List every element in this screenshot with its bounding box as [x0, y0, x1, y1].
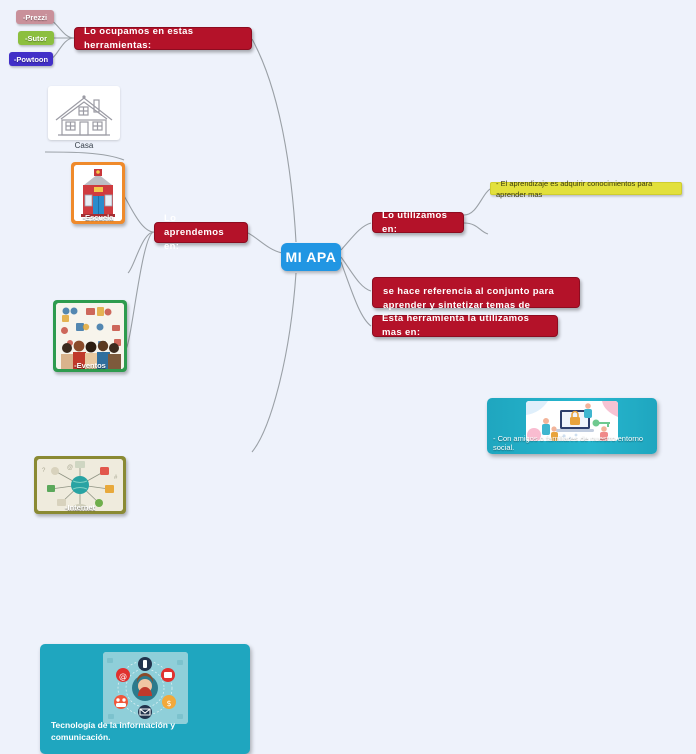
node-casa-caption: Casa — [48, 141, 120, 150]
connector-usein-to-note — [464, 188, 492, 215]
node-social-card-caption: - Con amigos o familiares de nuestro ent… — [487, 432, 657, 454]
node-definition-line1: se hace referencia al conjunto para — [383, 285, 569, 299]
node-sutor-label: -Sutor — [25, 34, 47, 43]
house-icon — [48, 86, 120, 140]
connector-casa-stub — [45, 152, 124, 160]
node-learning-note-label: - El aprendizaje es adquirir conocimient… — [496, 178, 676, 200]
node-escuela[interactable]: -Escuela — [71, 162, 125, 224]
svg-text:@: @ — [67, 465, 73, 471]
svg-text:$: $ — [166, 699, 171, 708]
svg-text:@: @ — [119, 672, 127, 681]
node-usein-header[interactable]: Lo utilizamos en: — [372, 212, 464, 233]
node-eventos[interactable]: -Eventos — [53, 300, 127, 372]
node-sutor[interactable]: -Sutor — [18, 31, 54, 45]
node-social-card[interactable]: - Con amigos o familiares de nuestro ent… — [487, 398, 657, 454]
node-internet-caption: -Internet — [34, 502, 126, 514]
node-learnin-header-label: Lo aprendemos en: — [164, 212, 238, 254]
node-tic-card-picture: @ $ — [103, 652, 188, 724]
node-prezzi[interactable]: -Prezzi — [16, 10, 54, 24]
connector-root-to-usein — [341, 223, 371, 250]
connector-root-to-definition — [341, 257, 371, 291]
node-usein-header-label: Lo utilizamos en: — [382, 209, 454, 237]
connector-learnin-to-escuela — [122, 193, 154, 232]
connector-root-to-toolused — [341, 262, 371, 326]
node-escuela-caption: -Escuela — [71, 212, 125, 224]
node-learning-note[interactable]: - El aprendizaje es adquirir conocimient… — [490, 182, 682, 195]
node-definition[interactable]: se hace referencia al conjunto para apre… — [372, 277, 580, 308]
node-tic-card-title: Tecnología de la información y comunicac… — [51, 719, 242, 743]
connector-learnin-to-eventos — [128, 232, 154, 273]
connector-usein-to-card — [464, 223, 488, 234]
node-tools-header-label: Lo ocupamos en estas herramientas: — [84, 25, 242, 53]
node-tic-card-title-line2: comunicación. — [51, 731, 242, 743]
node-tic-card-title-line1: Tecnología de la información y — [51, 719, 242, 731]
node-powtoon[interactable]: -Powtoon — [9, 52, 53, 66]
node-casa[interactable] — [48, 86, 120, 140]
node-tools-header[interactable]: Lo ocupamos en estas herramientas: — [74, 27, 252, 50]
node-toolused-label: Esta herramienta la utilizamos mas en: — [382, 312, 548, 340]
tic-network-icon: @ $ — [103, 652, 188, 724]
node-root-label: MI APA — [285, 249, 336, 265]
node-eventos-caption: -Eventos — [53, 360, 127, 372]
node-learnin-header[interactable]: Lo aprendemos en: — [154, 222, 248, 243]
connector-root-to-tic — [252, 273, 296, 452]
node-tic-card[interactable]: @ $ Tecnología de la información y com — [40, 644, 250, 754]
connector-root-to-learnin — [248, 233, 282, 253]
node-toolused[interactable]: Esta herramienta la utilizamos mas en: — [372, 315, 558, 337]
connector-root-to-tools — [252, 39, 296, 242]
connector-learnin-to-internet — [126, 232, 154, 349]
node-powtoon-label: -Powtoon — [14, 55, 48, 64]
node-prezzi-label: -Prezzi — [23, 13, 47, 22]
node-internet[interactable]: ? # @ -Internet — [34, 456, 126, 514]
mindmap-canvas: -Prezzi -Sutor -Powtoon Lo ocupamos en e… — [0, 0, 696, 520]
node-root[interactable]: MI APA — [281, 243, 341, 271]
